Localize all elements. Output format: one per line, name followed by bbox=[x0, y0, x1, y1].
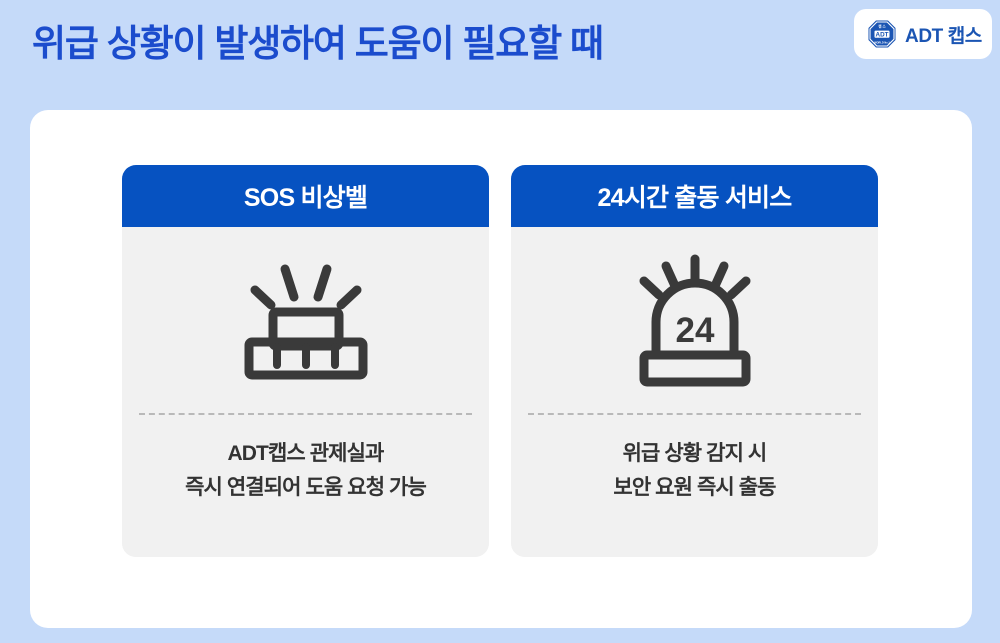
svg-text:캡 스: 캡 스 bbox=[878, 24, 886, 29]
slide-canvas: 위급 상황이 발생하여 도움이 필요할 때 ADT 캡 스 WORLD No.1… bbox=[0, 0, 1000, 643]
card-desc-line: ADT캡스 관제실과 bbox=[185, 437, 426, 471]
card-title-24h: 24시간 출동 서비스 bbox=[511, 165, 878, 227]
siren-24-label: 24 bbox=[675, 311, 714, 350]
card-sos-emergency-bell[interactable]: SOS 비상벨 bbox=[122, 165, 489, 557]
card-description-sos: ADT캡스 관제실과 즉시 연결되어 도움 요청 가능 bbox=[185, 437, 426, 505]
card-divider-sos bbox=[139, 413, 472, 415]
card-body-24h: 24 위급 상황 감지 시 보안 요원 즉시 출동 bbox=[511, 227, 878, 557]
page-title: 위급 상황이 발생하여 도움이 필요할 때 bbox=[32, 20, 603, 68]
card-description-24h: 위급 상황 감지 시 보안 요원 즉시 출동 bbox=[613, 437, 775, 505]
card-24h-dispatch-service[interactable]: 24시간 출동 서비스 bbox=[511, 165, 878, 557]
brand-name: ADT 캡스 bbox=[905, 21, 982, 48]
svg-text:ADT: ADT bbox=[876, 32, 889, 39]
content-panel: SOS 비상벨 bbox=[30, 110, 972, 628]
brand-logo: ADT 캡 스 WORLD No.1 ADT 캡스 bbox=[854, 9, 992, 59]
card-desc-line: 위급 상황 감지 시 bbox=[613, 437, 775, 471]
card-desc-line: 보안 요원 즉시 출동 bbox=[613, 471, 775, 505]
adt-octagon-icon: ADT 캡 스 WORLD No.1 bbox=[867, 19, 897, 49]
svg-text:WORLD No.1: WORLD No.1 bbox=[874, 41, 890, 44]
card-desc-line: 즉시 연결되어 도움 요청 가능 bbox=[185, 471, 426, 505]
card-divider-24h bbox=[528, 413, 861, 415]
card-body-sos: ADT캡스 관제실과 즉시 연결되어 도움 요청 가능 bbox=[122, 227, 489, 557]
card-title-sos: SOS 비상벨 bbox=[122, 165, 489, 227]
card-group: SOS 비상벨 bbox=[122, 165, 878, 557]
siren-24-icon: 24 bbox=[624, 227, 766, 413]
siren-bell-icon bbox=[241, 227, 371, 413]
